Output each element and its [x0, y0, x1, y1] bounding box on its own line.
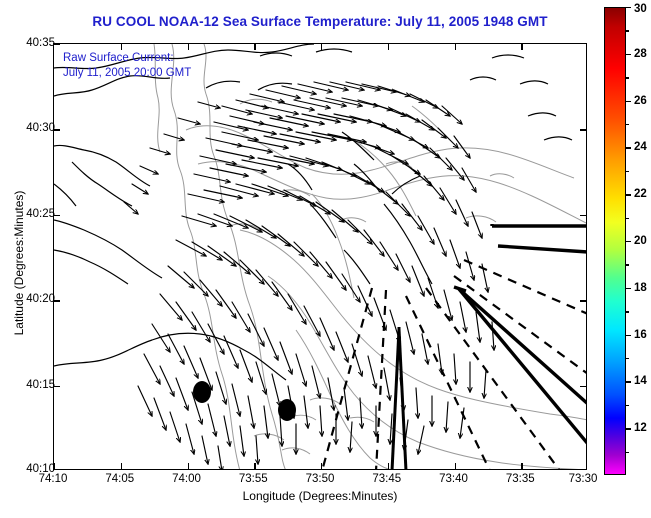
colorbar-tick-label: 14: [634, 375, 647, 387]
colorbar-tick-minor: [626, 124, 629, 125]
x-tick-label: 74:10: [39, 473, 68, 485]
figure-canvas: RU COOL NOAA-12 Sea Surface Temperature:…: [0, 0, 651, 518]
x-tick-label: 73:45: [372, 473, 401, 485]
x-tick-label: 73:55: [239, 473, 268, 485]
y-tick-label: 40:20: [26, 293, 55, 305]
colorbar-tick-minor: [626, 452, 629, 453]
colorbar-tick: [626, 147, 631, 148]
colorbar-tick: [626, 335, 631, 336]
colorbar-tick: [626, 428, 631, 429]
colorbar-tick-minor: [626, 171, 629, 172]
colorbar-tick-minor: [626, 264, 629, 265]
y-axis-title: Latitude (Degrees:Minutes): [12, 148, 26, 378]
colorbar-tick-minor: [626, 311, 629, 312]
x-tick-label: 73:50: [306, 473, 335, 485]
colorbar-tick-label: 24: [634, 141, 647, 153]
colorbar-tick-label: 30: [634, 3, 647, 15]
colorbar-tick-minor: [626, 218, 629, 219]
y-tick-label: 40:15: [26, 379, 55, 391]
x-tick-label: 73:35: [506, 473, 535, 485]
colorbar-tick: [626, 54, 631, 55]
y-tick-label: 40:25: [26, 208, 55, 220]
colorbar-tick-label: 12: [634, 422, 647, 434]
y-tick-label: 40:10: [26, 463, 55, 475]
y-tick-labels: 74:10 74:05 74:00 73:55 73:50 73:45 73:4…: [0, 0, 651, 518]
colorbar-tick-label: 22: [634, 188, 647, 200]
colorbar-tick-minor: [626, 405, 629, 406]
x-tick-label: 73:40: [439, 473, 468, 485]
y-tick-label: 40:30: [26, 122, 55, 134]
colorbar-tick: [626, 288, 631, 289]
x-axis-title: Longitude (Degrees:Minutes): [53, 489, 587, 503]
colorbar-gradient: [604, 7, 626, 475]
colorbar-tick: [626, 7, 631, 8]
colorbar-tick: [626, 381, 631, 382]
x-tick-label: 74:05: [105, 473, 134, 485]
colorbar[interactable]: 30 28 26 24 22 20 18 16 14 12: [604, 7, 626, 475]
x-tick-label: 73:30: [569, 473, 598, 485]
y-tick-label: 40:35: [26, 37, 55, 49]
colorbar-tick: [626, 194, 631, 195]
x-tick-label: 74:00: [172, 473, 201, 485]
colorbar-tick-minor: [626, 30, 629, 31]
colorbar-tick-label: 20: [634, 235, 647, 247]
colorbar-tick: [626, 101, 631, 102]
colorbar-tick-label: 16: [634, 329, 647, 341]
colorbar-tick: [626, 241, 631, 242]
colorbar-tick-label: 26: [634, 95, 647, 107]
colorbar-tick-minor: [626, 358, 629, 359]
colorbar-tick-minor: [626, 77, 629, 78]
colorbar-tick-label: 18: [634, 282, 647, 294]
colorbar-tick-label: 28: [634, 48, 647, 60]
